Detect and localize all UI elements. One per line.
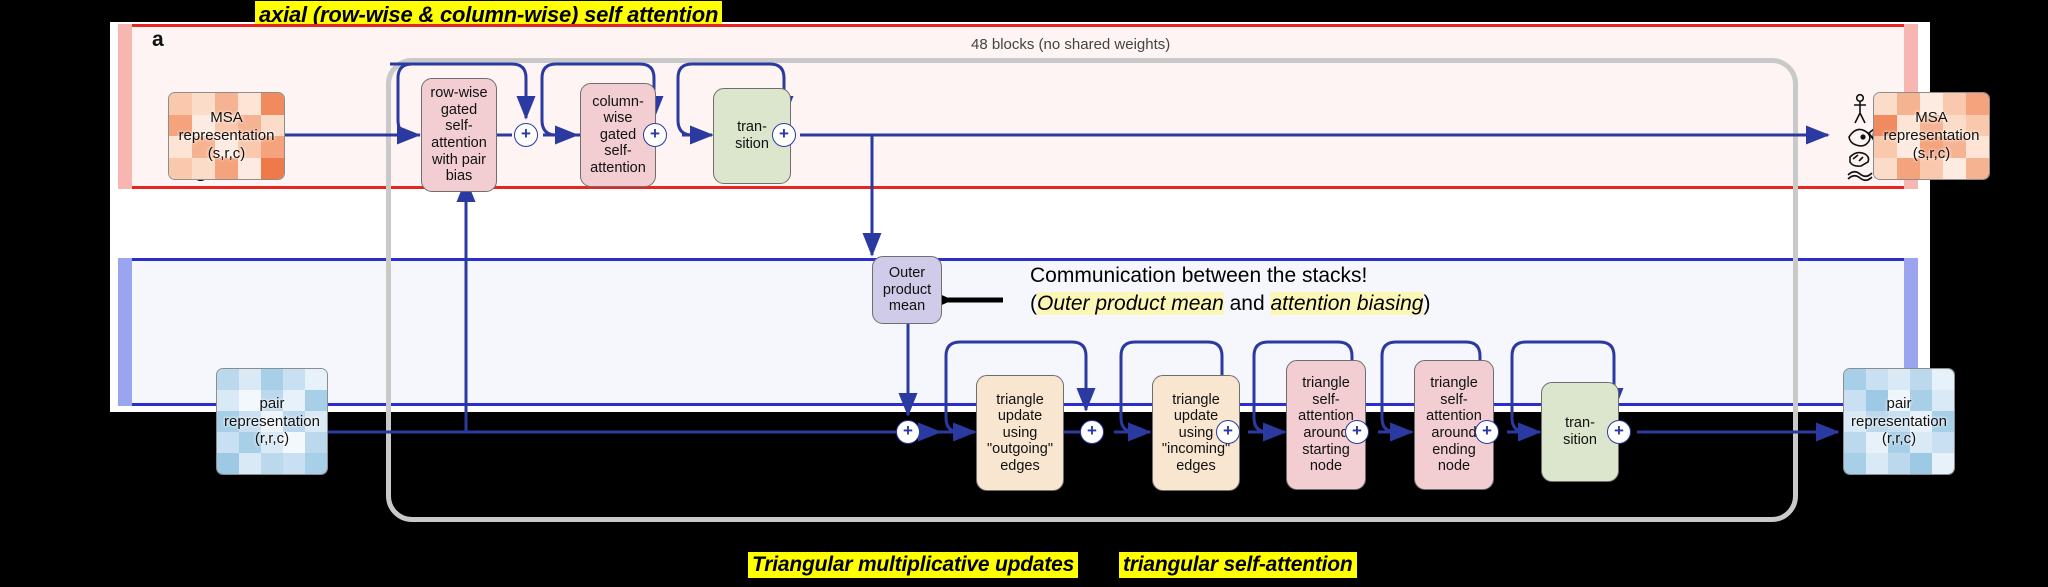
block-column-wise-label: column-wisegatedself-attention	[590, 94, 646, 177]
organism-icons-output	[1843, 92, 1877, 182]
comm-attention-biasing-em: attention biasing	[1270, 292, 1423, 315]
pair-input-line2: representation	[224, 413, 320, 430]
pair-residual-add-5: +	[1607, 420, 1631, 444]
block-outer-product-mean-label: Outerproductmean	[883, 265, 931, 315]
msa-representation-input: MSA representation (s,r,c)	[168, 92, 285, 180]
comm-outer-product-mean-em: Outer product mean	[1037, 292, 1224, 315]
pair-input-title: pair	[259, 395, 284, 412]
msa-input-dims: (s,r,c)	[208, 145, 246, 162]
comm-open-paren: (	[1030, 292, 1037, 315]
pair-output-title: pair	[1886, 395, 1911, 412]
block-outer-product-mean[interactable]: Outerproductmean	[872, 256, 942, 324]
pair-input-dims: (r,r,c)	[255, 430, 289, 447]
organism-glyphs-output-icon	[1845, 93, 1875, 181]
pair-output-line2: representation	[1851, 413, 1947, 430]
msa-representation-output: MSA representation (s,r,c)	[1873, 92, 1990, 180]
communication-line-1: Communication between the stacks!	[1030, 262, 1430, 290]
msa-output-label: MSA representation (s,r,c)	[1884, 109, 1980, 162]
pair-representation-input: pair representation (r,r,c)	[216, 368, 328, 475]
pair-residual-add-4: +	[1475, 420, 1499, 444]
block-pair-transition-label: tran-sition	[1563, 415, 1597, 448]
annotation-triangular-self-attention: triangular self-attention	[1119, 552, 1357, 578]
msa-input-line2: representation	[179, 127, 275, 144]
msa-output-title: MSA	[1915, 109, 1948, 126]
block-triangle-update-outgoing[interactable]: triangleupdateusing"outgoing"edges	[976, 375, 1064, 491]
block-triangle-self-attention-starting-label: triangleself-attentionaroundstartingnode	[1298, 375, 1354, 474]
block-triangle-update-outgoing-label: triangleupdateusing"outgoing"edges	[987, 392, 1053, 475]
pair-residual-add-2: +	[1216, 420, 1240, 444]
pair-representation-output: pair representation (r,r,c)	[1843, 368, 1955, 475]
msa-input-label: MSA representation (s,r,c)	[179, 109, 275, 162]
pair-residual-add-0: +	[896, 420, 920, 444]
annotation-triangular-multiplicative-updates: Triangular multiplicative updates	[748, 552, 1078, 578]
comm-and: and	[1224, 292, 1271, 315]
msa-residual-add-1: +	[514, 123, 538, 147]
communication-line-2: (Outer product mean and attention biasin…	[1030, 290, 1430, 318]
diagram-canvas: axial (row-wise & column-wise) self atte…	[0, 0, 2048, 587]
block-triangle-self-attention-ending-label: triangleself-attentionaroundendingnode	[1426, 375, 1482, 474]
msa-output-dims: (s,r,c)	[1913, 145, 1951, 162]
pair-residual-add-3: +	[1345, 420, 1369, 444]
comm-close-paren: )	[1423, 292, 1430, 315]
panel-letter-a: a	[152, 28, 164, 52]
blocks-count-label: 48 blocks (no shared weights)	[965, 36, 1176, 53]
communication-note: Communication between the stacks! (Outer…	[1030, 262, 1430, 317]
pair-frame-left-edge	[118, 258, 132, 406]
msa-residual-add-2: +	[643, 123, 667, 147]
pair-output-dims: (r,r,c)	[1882, 430, 1916, 447]
msa-output-line2: representation	[1884, 127, 1980, 144]
pair-input-label: pair representation (r,r,c)	[224, 395, 320, 448]
pair-output-label: pair representation (r,r,c)	[1851, 395, 1947, 448]
msa-frame-left-edge	[118, 24, 132, 189]
block-msa-transition-label: tran-sition	[735, 119, 769, 152]
pair-residual-add-1: +	[1080, 420, 1104, 444]
msa-residual-add-3: +	[772, 123, 796, 147]
msa-input-title: MSA	[210, 109, 243, 126]
block-row-wise-gated-self-attention[interactable]: row-wisegatedself-attentionwith pairbias	[421, 78, 497, 192]
block-row-wise-label: row-wisegatedself-attentionwith pairbias	[430, 85, 487, 184]
